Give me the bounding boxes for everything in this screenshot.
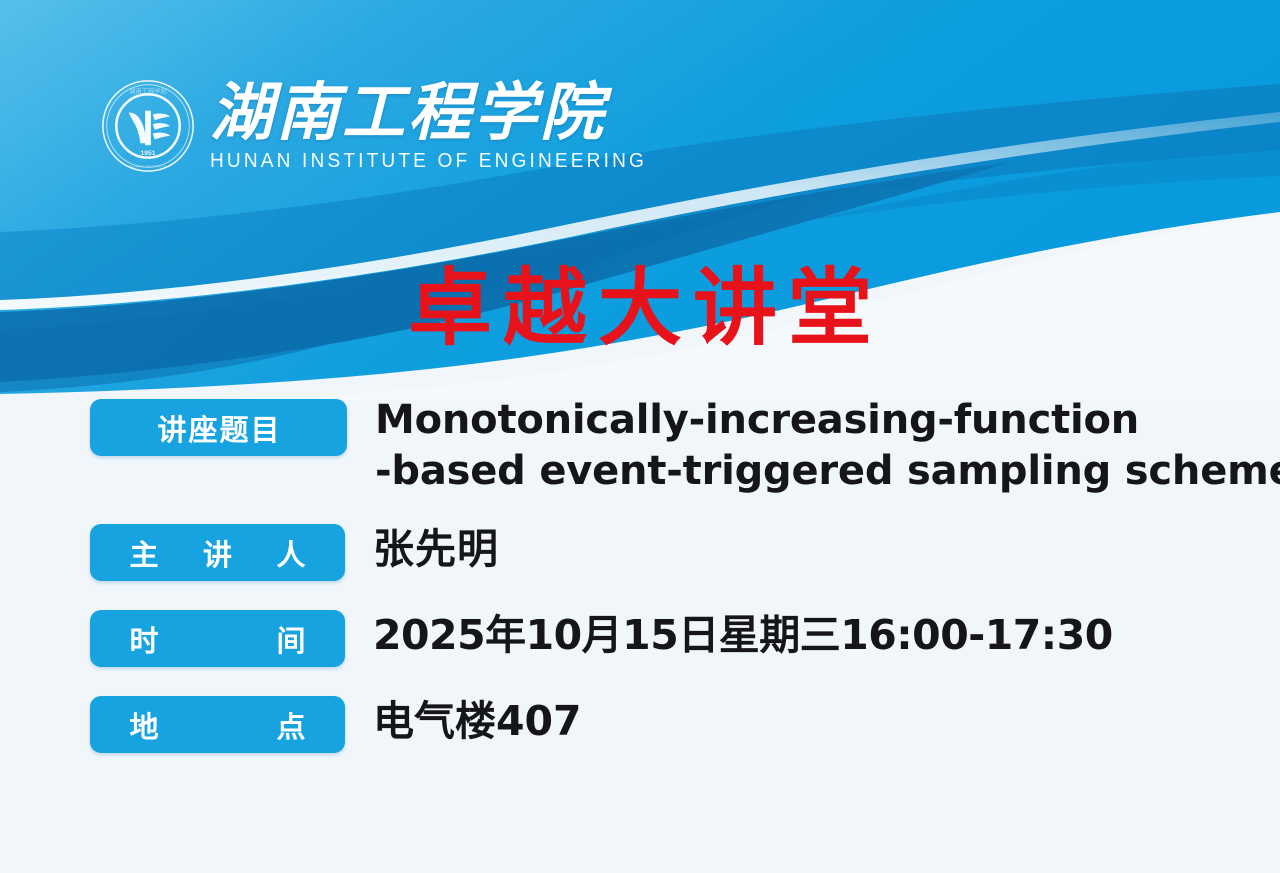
info-row-speaker: 主 讲 人 张先明 (90, 524, 1250, 581)
badge-speaker: 主 讲 人 (90, 524, 345, 581)
university-logo-block: 1951 湖南工程学院 HUNAN INSTITUTE 湖南工程学院 HUNAN… (100, 78, 680, 174)
badge-lecture-title: 讲座题目 (90, 399, 347, 456)
badge-speaker-char-2: 讲 (203, 532, 232, 574)
badge-speaker-chars: 主 讲 人 (130, 532, 306, 574)
info-row-time: 时 间 2025年10月15日星期三16:00-17:30 (90, 610, 1250, 667)
university-name-en: HUNAN INSTITUTE OF ENGINEERING (210, 149, 647, 173)
lecture-title-line-1: Monotonically-increasing-function (375, 395, 1280, 446)
badge-time-char-2: 间 (276, 618, 305, 660)
svg-text:湖南工程学院: 湖南工程学院 (129, 87, 167, 95)
badge-place-char-1: 地 (130, 704, 159, 746)
info-row-lecture-title: 讲座题目 Monotonically-increasing-function -… (90, 399, 1250, 497)
university-seal-icon: 1951 湖南工程学院 HUNAN INSTITUTE (100, 78, 196, 174)
badge-place-chars: 地 点 (130, 704, 306, 746)
badge-speaker-char-3: 人 (276, 532, 305, 574)
badge-place: 地 点 (90, 696, 345, 753)
university-name-block: 湖南工程学院 HUNAN INSTITUTE OF ENGINEERING (210, 79, 680, 174)
lecture-title-line-2: -based event-triggered sampling scheme (375, 446, 1280, 497)
badge-time-char-1: 时 (130, 618, 159, 660)
badge-time-chars: 时 间 (130, 618, 306, 660)
info-row-place: 地 点 电气楼407 (90, 696, 1250, 753)
value-time: 2025年10月15日星期三16:00-17:30 (373, 615, 1113, 656)
svg-text:HUNAN INSTITUTE: HUNAN INSTITUTE (129, 164, 168, 168)
info-list: 讲座题目 Monotonically-increasing-function -… (90, 399, 1250, 753)
lecture-poster: 1951 湖南工程学院 HUNAN INSTITUTE 湖南工程学院 HUNAN… (0, 0, 1280, 873)
badge-place-char-2: 点 (276, 704, 305, 746)
poster-main-title: 卓越大讲堂 (0, 268, 1280, 352)
badge-speaker-char-1: 主 (130, 532, 159, 574)
value-place: 电气楼407 (373, 701, 582, 742)
badge-time: 时 间 (90, 610, 345, 667)
value-lecture-title: Monotonically-increasing-function -based… (375, 395, 1280, 497)
university-name-cn: 湖南工程学院 (210, 83, 680, 145)
svg-text:1951: 1951 (141, 150, 156, 157)
value-speaker: 张先明 (373, 529, 499, 570)
